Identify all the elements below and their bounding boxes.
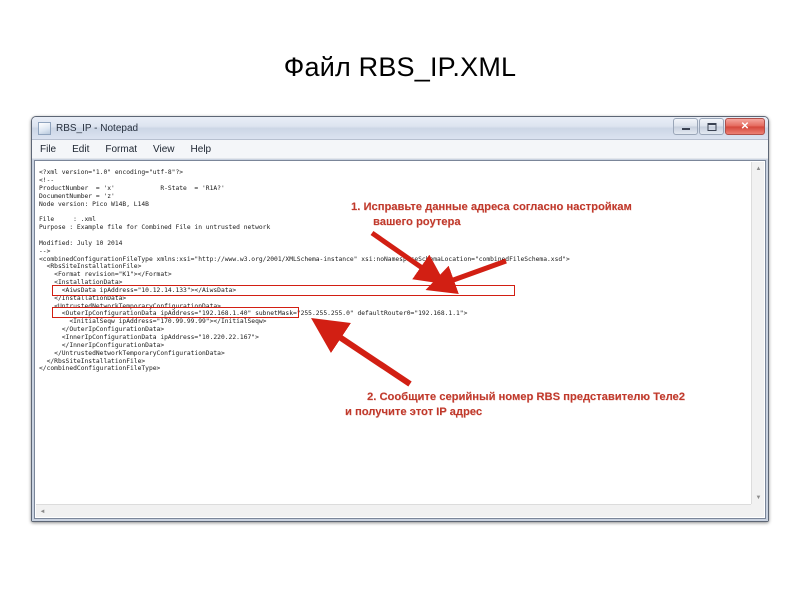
window-titlebar[interactable]: RBS_IP - Notepad ✕ bbox=[32, 117, 768, 140]
slide-root: Файл RBS_IP.XML RBS_IP - Notepad ✕ File … bbox=[0, 0, 800, 600]
window-controls: ✕ bbox=[673, 118, 765, 135]
vertical-scrollbar[interactable]: ▲ ▼ bbox=[751, 162, 764, 504]
scroll-left-icon[interactable]: ◄ bbox=[36, 505, 49, 518]
annotation-note-2: 2. Сообщите серийный номер RBS представи… bbox=[367, 390, 685, 420]
window-title: RBS_IP - Notepad bbox=[56, 123, 138, 134]
menu-item-edit[interactable]: Edit bbox=[69, 143, 92, 156]
annotation-arrow-3 bbox=[298, 310, 428, 400]
scroll-up-icon[interactable]: ▲ bbox=[752, 162, 765, 175]
highlight-box-inner-ip bbox=[52, 307, 299, 318]
menu-item-format[interactable]: Format bbox=[102, 143, 140, 156]
close-icon: ✕ bbox=[741, 122, 749, 132]
page-title: Файл RBS_IP.XML bbox=[0, 52, 800, 83]
annotation-note-1: 1. Исправьте данные адреса согласно наст… bbox=[351, 200, 632, 230]
notepad-icon bbox=[38, 122, 51, 135]
scroll-down-icon[interactable]: ▼ bbox=[752, 491, 765, 504]
maximize-button[interactable] bbox=[699, 118, 724, 135]
menu-item-file[interactable]: File bbox=[37, 143, 59, 156]
annotation-arrow-2 bbox=[410, 255, 530, 305]
maximize-icon bbox=[707, 123, 716, 131]
horizontal-scrollbar[interactable]: ◄ ► bbox=[36, 504, 764, 517]
minimize-icon bbox=[682, 128, 690, 130]
close-button[interactable]: ✕ bbox=[725, 118, 765, 135]
menu-item-view[interactable]: View bbox=[150, 143, 178, 156]
minimize-button[interactable] bbox=[673, 118, 698, 135]
scrollbar-corner bbox=[751, 504, 764, 517]
annotation-note-2-line1: 2. Сообщите серийный номер RBS представи… bbox=[367, 391, 685, 403]
annotation-note-1-line2: вашего роутера bbox=[373, 216, 461, 228]
menu-item-help[interactable]: Help bbox=[188, 143, 215, 156]
annotation-note-1-line1: 1. Исправьте данные адреса согласно наст… bbox=[351, 201, 632, 213]
menu-bar: File Edit Format View Help bbox=[32, 140, 768, 159]
annotation-note-2-line2: и получите этот IP адрес bbox=[345, 405, 685, 420]
